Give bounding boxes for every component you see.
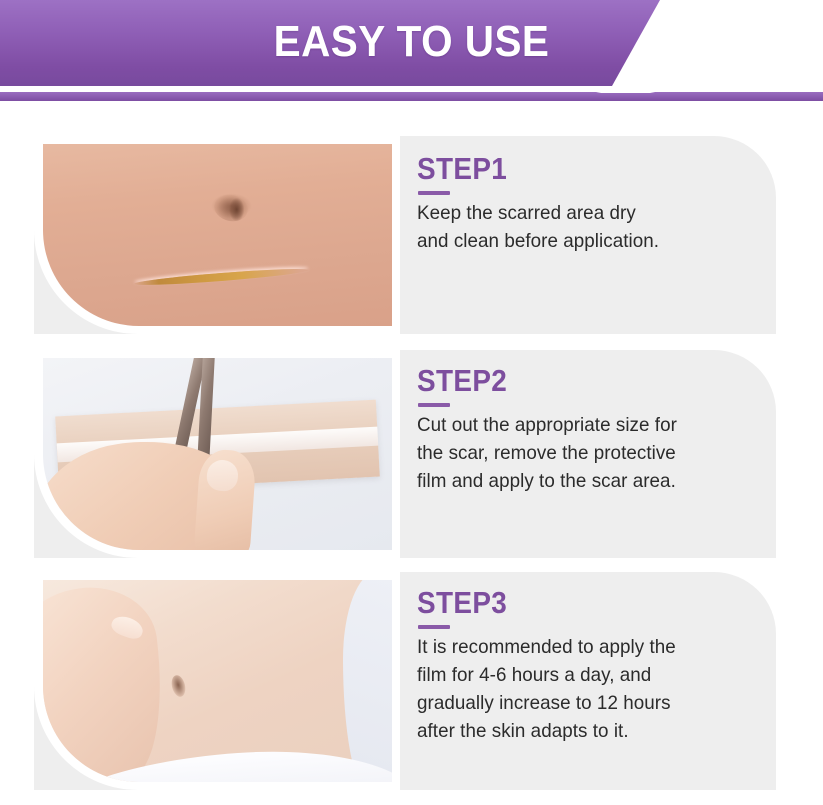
step-3-photo [43, 580, 392, 782]
step-3-title: STEP3 [417, 586, 728, 620]
step-card-2: STEP2 Cut out the appropriate size for t… [34, 350, 776, 558]
step-3-body: It is recommended to apply the film for … [417, 633, 750, 745]
step-3-line-3: gradually increase to 12 hours [417, 689, 750, 717]
scar-on-abdomen-image [43, 144, 392, 326]
step-1-rule [418, 191, 450, 195]
step-3-text: STEP3 It is recommended to apply the fil… [417, 572, 762, 790]
step-card-1: STEP1 Keep the scarred area dry and clea… [34, 136, 776, 334]
step-1-line-1: Keep the scarred area dry [417, 199, 750, 227]
step-1-body: Keep the scarred area dry and clean befo… [417, 199, 750, 255]
navel-detail [212, 192, 251, 225]
step-2-line-1: Cut out the appropriate size for [417, 411, 750, 439]
step-1-photo-frame [34, 136, 400, 334]
step-1-title: STEP1 [417, 152, 728, 186]
background-drape [343, 580, 392, 782]
step-2-body: Cut out the appropriate size for the sca… [417, 411, 750, 495]
page-title: EASY TO USE [33, 16, 790, 68]
step-2-rule [418, 403, 450, 407]
header-notch-cut [596, 86, 686, 93]
step-2-title: STEP2 [417, 364, 728, 398]
step-1-photo [43, 144, 392, 326]
step-1-text: STEP1 Keep the scarred area dry and clea… [417, 136, 762, 334]
cutting-silicone-sheet-image [43, 358, 392, 550]
step-3-line-1: It is recommended to apply the [417, 633, 750, 661]
step-3-photo-frame [34, 572, 400, 790]
step-2-text: STEP2 Cut out the appropriate size for t… [417, 350, 762, 558]
navel [170, 674, 188, 698]
easy-to-use-infographic: EASY TO USE STEP1 Keep the scarred area … [0, 0, 823, 805]
step-2-photo-frame [34, 350, 400, 558]
step-1-line-2: and clean before application. [417, 227, 750, 255]
step-card-3: STEP3 It is recommended to apply the fil… [34, 572, 776, 790]
hand [43, 580, 173, 782]
step-3-line-2: film for 4-6 hours a day, and [417, 661, 750, 689]
step-3-line-4: after the skin adapts to it. [417, 717, 750, 745]
header-banner: EASY TO USE [0, 0, 823, 104]
step-2-line-3: film and apply to the scar area. [417, 467, 750, 495]
header-accent-stripe [0, 92, 823, 101]
step-3-rule [418, 625, 450, 629]
step-2-line-2: the scar, remove the protective [417, 439, 750, 467]
hand-on-belly-image [43, 580, 392, 782]
step-2-photo [43, 358, 392, 550]
